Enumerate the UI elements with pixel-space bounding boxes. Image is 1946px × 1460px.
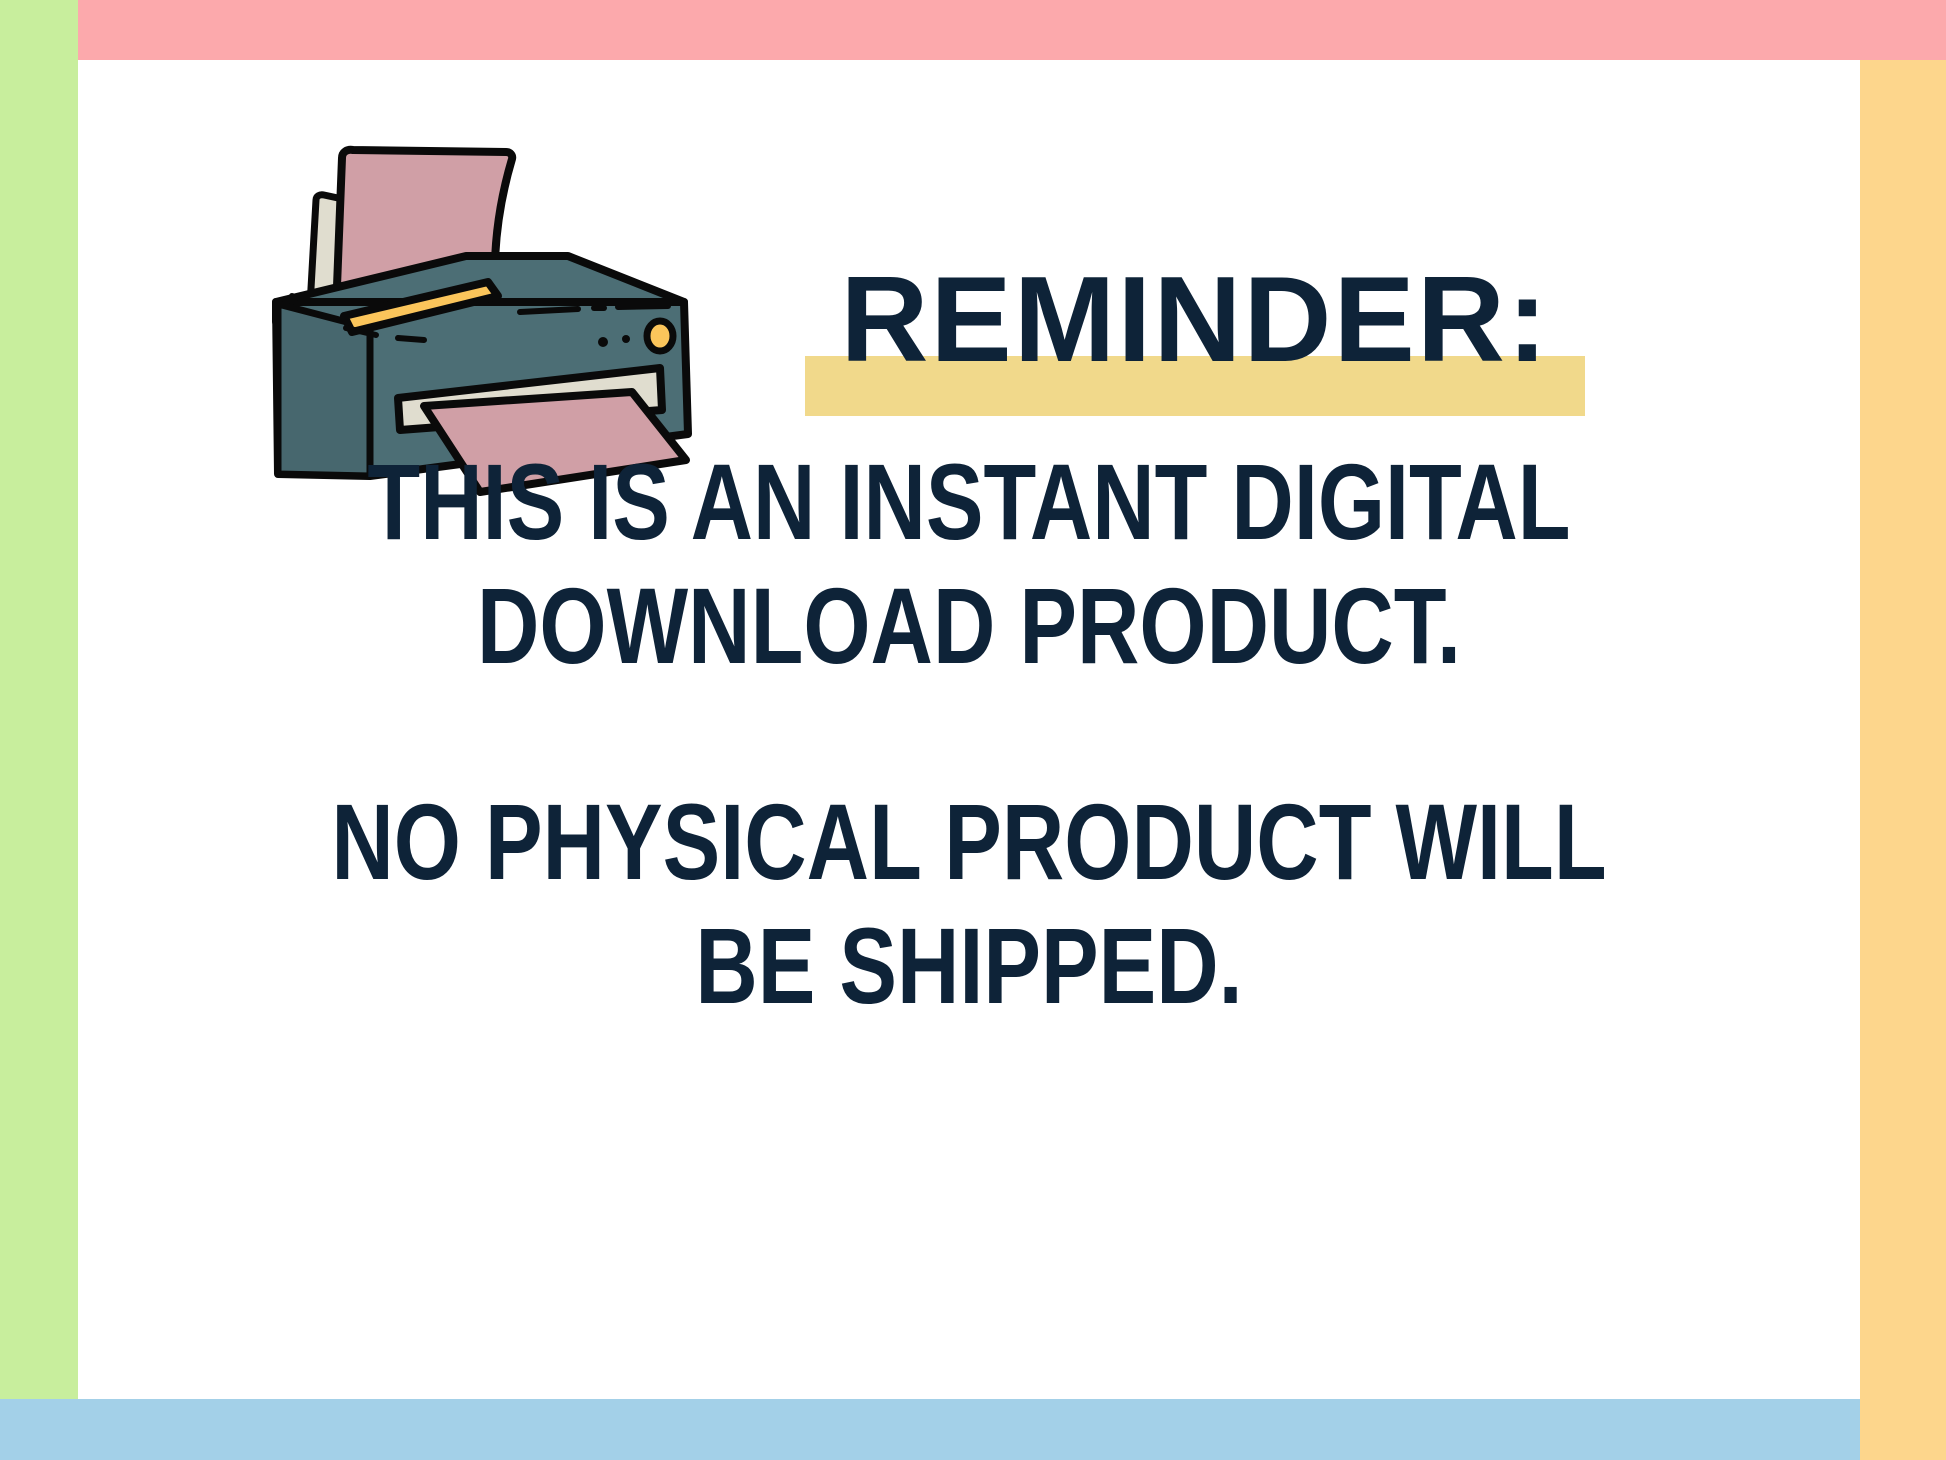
body-line-1: THIS IS AN INSTANT DIGITAL bbox=[256, 440, 1682, 564]
body-copy: THIS IS AN INSTANT DIGITAL DOWNLOAD PROD… bbox=[78, 440, 1860, 1028]
body-line-2: DOWNLOAD PRODUCT. bbox=[256, 564, 1682, 688]
paragraph-spacer bbox=[78, 688, 1860, 780]
printer-detail-line-6 bbox=[292, 296, 304, 299]
printer-detail-line-3 bbox=[618, 306, 668, 307]
border-bar-bottom bbox=[0, 1399, 1860, 1460]
border-bar-right bbox=[1860, 60, 1946, 1460]
printer-detail-line-1 bbox=[520, 309, 578, 312]
printer-indicator-light bbox=[647, 321, 673, 351]
poster-canvas: REMINDER: THIS IS AN INSTANT DIGITAL DOW… bbox=[0, 0, 1946, 1460]
printer-detail-line-5 bbox=[398, 338, 424, 340]
printer-button-b bbox=[622, 335, 630, 343]
border-bar-top bbox=[78, 0, 1946, 60]
page-title: REMINDER: bbox=[805, 222, 1585, 417]
reminder-heading: REMINDER: bbox=[805, 222, 1585, 417]
body-line-4: BE SHIPPED. bbox=[256, 904, 1682, 1028]
body-line-3: NO PHYSICAL PRODUCT WILL bbox=[256, 780, 1682, 904]
printer-button-a bbox=[598, 337, 608, 347]
border-bar-left bbox=[0, 0, 78, 1399]
